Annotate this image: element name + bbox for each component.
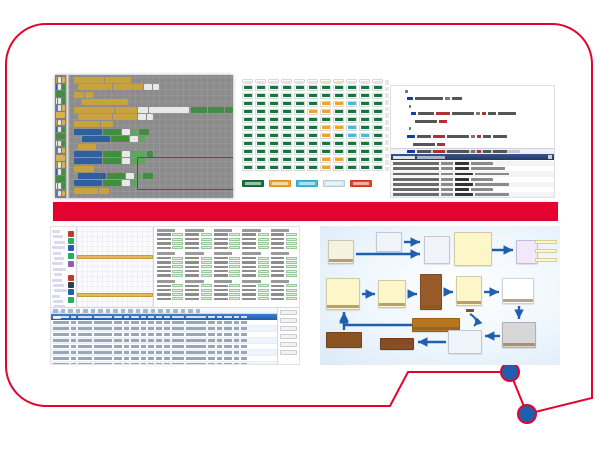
palette-block[interactable] [56,91,65,97]
grid-status-card[interactable] [346,85,357,91]
form-field-value[interactable] [172,293,183,296]
form-field-value[interactable] [258,284,269,287]
toolbar-icon[interactable] [61,309,66,313]
form-field[interactable] [242,274,268,277]
form-field-value[interactable] [229,274,240,277]
tree-item[interactable] [53,300,63,303]
grid-status-card[interactable] [372,149,383,155]
grid-status-card[interactable] [294,93,305,99]
form-field-value[interactable] [258,293,269,296]
legend-chip-alarm[interactable] [350,180,372,187]
grid-status-card[interactable] [255,117,266,123]
form-field[interactable] [157,261,183,264]
form-field[interactable] [242,242,268,245]
node-order-terminal[interactable] [424,236,450,264]
code-block[interactable] [78,144,233,150]
grid-status-card[interactable] [372,93,383,99]
form-field[interactable] [157,238,183,241]
form-field[interactable] [214,284,240,287]
grid-status-card[interactable] [359,157,370,163]
form-field[interactable] [271,246,297,249]
grid-status-card[interactable] [281,117,292,123]
toolbar-icon[interactable] [166,309,171,313]
form-field[interactable] [214,233,240,236]
grid-status-card[interactable] [372,109,383,115]
node-receiving-dock[interactable] [326,278,360,310]
form-field-value[interactable] [258,233,269,236]
code-block[interactable] [74,151,233,157]
tree-item[interactable] [52,230,60,233]
form-field[interactable] [271,233,297,236]
grid-status-card[interactable] [307,117,318,123]
form-field-value[interactable] [286,261,297,264]
toolbar-icon[interactable] [53,309,58,313]
grid-status-card[interactable] [294,85,305,91]
toolbar-icon[interactable] [196,309,201,313]
grid-status-card[interactable] [242,165,253,171]
grid-status-card[interactable] [359,141,370,147]
code-block[interactable] [74,92,233,98]
side-action-button[interactable] [280,318,297,323]
table-column-header[interactable] [53,316,69,319]
grid-status-card[interactable] [268,117,279,123]
form-field-value[interactable] [201,293,212,296]
grid-status-card[interactable] [320,157,331,163]
form-field-value[interactable] [229,257,240,260]
side-action-button[interactable] [280,326,297,331]
form-field-value[interactable] [172,246,183,249]
grid-status-card[interactable] [294,125,305,131]
grid-status-card[interactable] [294,141,305,147]
grid-status-card[interactable] [294,149,305,155]
grid-status-card[interactable] [333,141,344,147]
log-row[interactable] [391,197,554,198]
table-column-header[interactable] [114,316,122,319]
grid-status-card[interactable] [307,85,318,91]
table-column-header[interactable] [241,316,247,319]
grid-status-card[interactable] [372,133,383,139]
form-field-value[interactable] [286,242,297,245]
form-field[interactable] [242,289,268,292]
table-column-header[interactable] [78,316,92,319]
table-column-header[interactable] [71,316,76,319]
grid-status-card[interactable] [346,141,357,147]
toolbar-icon[interactable] [98,309,103,313]
form-field-value[interactable] [229,242,240,245]
tree-item[interactable] [53,268,66,271]
grid-status-card[interactable] [333,125,344,131]
table-column-header[interactable] [234,316,239,319]
tree-item[interactable] [52,279,62,282]
toolbar-icon[interactable] [188,309,193,313]
form-field-value[interactable] [201,289,212,292]
form-field[interactable] [214,297,240,300]
toolbar-icon[interactable] [106,309,111,313]
form-field[interactable] [185,293,211,296]
form-field-value[interactable] [286,270,297,273]
grid-status-card[interactable] [333,93,344,99]
form-field-value[interactable] [172,265,183,268]
grid-status-card[interactable] [268,149,279,155]
grid-status-card[interactable] [307,125,318,131]
tree-item[interactable] [52,295,60,298]
tree-item[interactable] [52,246,65,249]
scheduler-app-screenshot[interactable] [50,226,300,365]
grid-status-card[interactable] [346,125,357,131]
form-field[interactable] [157,284,183,287]
grid-status-card[interactable] [359,165,370,171]
grid-status-card[interactable] [307,141,318,147]
tree-item[interactable] [54,289,67,292]
toolbar-icon[interactable] [128,309,133,313]
form-field[interactable] [242,257,268,260]
form-field[interactable] [157,274,183,277]
form-field-value[interactable] [258,261,269,264]
form-field[interactable] [214,257,240,260]
grid-status-card[interactable] [346,117,357,123]
form-field[interactable] [271,261,297,264]
palette-block[interactable] [56,98,65,104]
form-field-value[interactable] [258,297,269,300]
palette-block[interactable] [56,112,65,118]
form-field[interactable] [157,242,183,245]
logistics-flow-diagram[interactable] [320,226,560,365]
grid-status-card[interactable] [242,133,253,139]
grid-status-card[interactable] [294,165,305,171]
tree-item[interactable] [53,284,64,287]
grid-status-card[interactable] [372,165,383,171]
grid-status-card[interactable] [359,101,370,107]
form-field-value[interactable] [258,257,269,260]
node-unloading-forklift[interactable] [378,280,406,308]
grid-status-card[interactable] [320,133,331,139]
form-field[interactable] [214,261,240,264]
form-field-value[interactable] [258,246,269,249]
grid-status-card[interactable] [372,85,383,91]
form-field-value[interactable] [286,274,297,277]
grid-status-card[interactable] [359,117,370,123]
grid-status-card[interactable] [320,149,331,155]
form-field-value[interactable] [229,265,240,268]
grid-status-card[interactable] [372,125,383,131]
grid-status-card[interactable] [333,117,344,123]
gantt-bar[interactable] [77,293,153,297]
form-field-value[interactable] [172,242,183,245]
code-editor-screenshot[interactable] [390,85,555,198]
form-field[interactable] [242,261,268,264]
legend-chip-info[interactable] [296,180,318,187]
toolbar-icon[interactable] [151,309,156,313]
form-field-value[interactable] [172,270,183,273]
grid-status-card[interactable] [307,149,318,155]
table-column-header[interactable] [124,316,129,319]
grid-status-card[interactable] [346,101,357,107]
form-field-value[interactable] [201,274,212,277]
form-field-value[interactable] [229,238,240,241]
form-field[interactable] [185,246,211,249]
grid-status-card[interactable] [255,109,266,115]
form-field[interactable] [157,265,183,268]
form-field-value[interactable] [229,233,240,236]
form-field-value[interactable] [286,297,297,300]
tree-item[interactable] [54,241,65,244]
grid-status-card[interactable] [255,133,266,139]
form-field-value[interactable] [286,246,297,249]
grid-status-card[interactable] [242,109,253,115]
grid-status-card[interactable] [333,149,344,155]
code-block[interactable] [82,99,233,105]
form-field-value[interactable] [172,289,183,292]
table-column-header[interactable] [148,316,154,319]
form-field[interactable] [271,257,297,260]
form-field[interactable] [157,289,183,292]
form-field[interactable] [185,265,211,268]
form-field[interactable] [214,270,240,273]
code-block[interactable] [74,129,233,135]
grid-status-card[interactable] [242,93,253,99]
palette-block[interactable] [56,84,65,90]
side-action-button[interactable] [280,310,297,315]
grid-status-card[interactable] [255,85,266,91]
form-field[interactable] [271,265,297,268]
palette-block[interactable] [56,183,65,189]
grid-status-card[interactable] [307,165,318,171]
palette-block[interactable] [56,176,65,182]
grid-status-card[interactable] [359,85,370,91]
grid-status-card[interactable] [320,85,331,91]
form-field-value[interactable] [201,242,212,245]
grid-status-card[interactable] [255,149,266,155]
form-field[interactable] [185,284,211,287]
grid-status-card[interactable] [281,101,292,107]
form-field[interactable] [214,242,240,245]
grid-status-card[interactable] [320,117,331,123]
form-field-value[interactable] [201,238,212,241]
grid-status-card[interactable] [281,125,292,131]
grid-status-card[interactable] [307,109,318,115]
palette-block[interactable] [56,155,65,161]
grid-status-card[interactable] [281,133,292,139]
palette-block[interactable] [56,148,65,154]
grid-status-card[interactable] [333,85,344,91]
palette-block[interactable] [56,169,65,175]
table-column-header[interactable] [156,316,162,319]
form-field[interactable] [242,233,268,236]
grid-status-card[interactable] [268,125,279,131]
form-field-value[interactable] [286,257,297,260]
form-field[interactable] [185,274,211,277]
grid-status-card[interactable] [294,133,305,139]
form-field[interactable] [271,238,297,241]
block-palette[interactable] [55,75,66,198]
grid-status-card[interactable] [255,101,266,107]
tree-item[interactable] [54,273,62,276]
grid-status-card[interactable] [242,149,253,155]
code-block[interactable] [78,114,233,120]
grid-status-card[interactable] [333,157,344,163]
grid-status-card[interactable] [372,117,383,123]
grid-status-card[interactable] [268,165,279,171]
grid-status-card[interactable] [359,93,370,99]
toolbar-icon[interactable] [91,309,96,313]
grid-status-card[interactable] [268,157,279,163]
grid-status-card[interactable] [307,93,318,99]
form-field[interactable] [242,265,268,268]
scheduler-upper-area[interactable] [51,227,299,307]
grid-status-card[interactable] [320,109,331,115]
grid-status-card[interactable] [359,133,370,139]
code-area[interactable] [391,86,554,148]
form-field-value[interactable] [229,246,240,249]
legend-chip-idle[interactable] [323,180,345,187]
palette-block[interactable] [56,120,65,126]
form-field-value[interactable] [172,284,183,287]
toolbar-icon[interactable] [68,309,73,313]
form-field-value[interactable] [172,257,183,260]
grid-status-card[interactable] [242,125,253,131]
node-barcode-print[interactable] [502,278,534,304]
form-field-value[interactable] [286,238,297,241]
grid-status-card[interactable] [268,109,279,115]
form-field-value[interactable] [258,265,269,268]
form-field[interactable] [214,274,240,277]
grid-status-card[interactable] [268,141,279,147]
table-column-header[interactable] [186,316,206,319]
grid-status-card[interactable] [372,101,383,107]
records-table[interactable] [51,307,299,365]
form-field[interactable] [271,297,297,300]
status-card-grid-screenshot[interactable] [240,78,390,200]
form-field[interactable] [157,257,183,260]
code-block[interactable] [74,107,233,113]
table-column-header[interactable] [141,316,146,319]
palette-block[interactable] [56,134,65,140]
form-field-value[interactable] [172,238,183,241]
legend-chip-normal[interactable] [242,180,264,187]
form-field[interactable] [271,293,297,296]
tree-item[interactable] [53,235,63,238]
toolbar-icon[interactable] [136,309,141,313]
form-field[interactable] [185,270,211,273]
form-field-value[interactable] [201,284,212,287]
grid-status-card[interactable] [307,101,318,107]
grid-status-card[interactable] [255,125,266,131]
legend-chip-warning[interactable] [269,180,291,187]
form-field-value[interactable] [286,289,297,292]
table-row[interactable] [51,362,299,365]
node-supplier-clerk[interactable] [328,240,354,264]
form-field-value[interactable] [258,238,269,241]
tree-item[interactable] [53,252,61,255]
form-field-value[interactable] [201,270,212,273]
node-scan-input[interactable] [502,322,536,348]
grid-status-card[interactable] [346,165,357,171]
form-field[interactable] [271,289,297,292]
form-field-value[interactable] [201,261,212,264]
grid-status-card[interactable] [281,157,292,163]
table-body[interactable] [51,320,299,365]
form-field[interactable] [242,297,268,300]
form-field[interactable] [271,284,297,287]
grid-status-card[interactable] [281,85,292,91]
grid-status-card[interactable] [242,141,253,147]
form-field[interactable] [185,257,211,260]
form-field-value[interactable] [172,261,183,264]
grid-status-card[interactable] [281,109,292,115]
table-side-buttons[interactable] [277,308,299,365]
form-field-value[interactable] [286,284,297,287]
table-column-header[interactable] [164,316,170,319]
form-field-value[interactable] [172,233,183,236]
form-field[interactable] [214,238,240,241]
grid-status-card[interactable] [268,101,279,107]
grid-status-card[interactable] [320,93,331,99]
form-field[interactable] [242,246,268,249]
card-grid-body[interactable] [240,78,390,171]
code-block[interactable] [74,121,233,127]
close-icon[interactable] [548,155,552,159]
palette-block[interactable] [56,77,65,83]
code-block[interactable] [82,136,233,142]
form-field[interactable] [271,270,297,273]
palette-block[interactable] [56,105,65,111]
form-field[interactable] [271,274,297,277]
form-field[interactable] [157,270,183,273]
form-field[interactable] [185,238,211,241]
form-field[interactable] [157,293,183,296]
blockly-editor-screenshot[interactable] [55,75,233,198]
form-field-value[interactable] [172,274,183,277]
grid-status-card[interactable] [333,165,344,171]
form-field-value[interactable] [286,265,297,268]
grid-status-card[interactable] [359,125,370,131]
form-field-value[interactable] [258,274,269,277]
grid-status-card[interactable] [346,149,357,155]
form-field[interactable] [214,265,240,268]
palette-block[interactable] [56,127,65,133]
table-column-header[interactable] [94,316,112,319]
grid-status-card[interactable] [242,85,253,91]
grid-status-card[interactable] [268,93,279,99]
grid-status-card[interactable] [294,117,305,123]
form-field-value[interactable] [229,289,240,292]
form-field-value[interactable] [201,257,212,260]
form-field-value[interactable] [172,297,183,300]
gantt-chart[interactable] [76,227,154,307]
form-field-value[interactable] [229,261,240,264]
table-column-header[interactable] [208,316,215,319]
log-console-rows[interactable] [391,160,554,198]
form-field-value[interactable] [258,270,269,273]
form-field[interactable] [185,289,211,292]
node-quality-check[interactable] [456,276,482,306]
grid-status-card[interactable] [346,157,357,163]
grid-status-card[interactable] [255,165,266,171]
grid-status-card[interactable] [320,101,331,107]
form-field-value[interactable] [201,265,212,268]
form-field[interactable] [214,293,240,296]
form-field[interactable] [242,284,268,287]
form-field[interactable] [157,297,183,300]
code-block[interactable] [78,84,233,90]
tree-item[interactable] [54,257,64,260]
palette-block[interactable] [56,141,65,147]
form-field-value[interactable] [286,293,297,296]
grid-status-card[interactable] [372,141,383,147]
form-field[interactable] [185,261,211,264]
node-inbound-complete[interactable] [380,338,414,350]
table-column-header[interactable] [172,316,184,319]
